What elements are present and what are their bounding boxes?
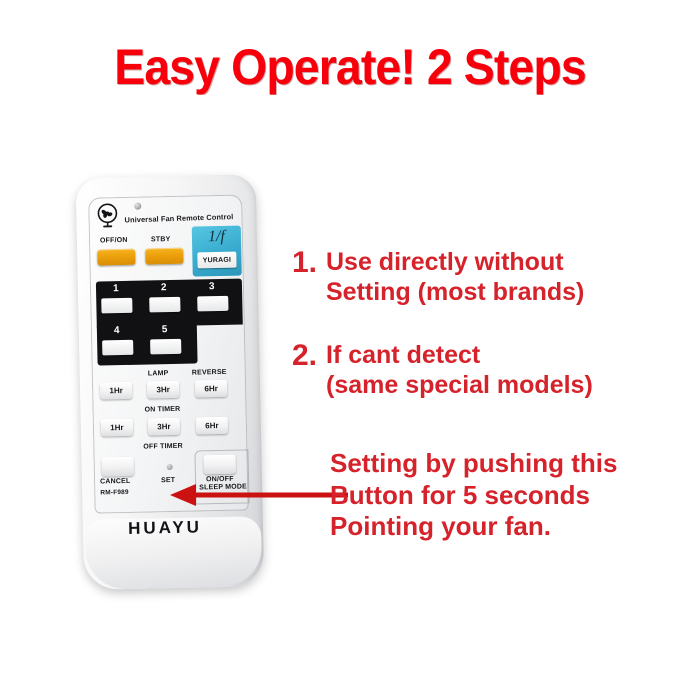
off-on-button[interactable] bbox=[97, 249, 135, 266]
timer-button-1hr-row2[interactable]: 1Hr bbox=[101, 419, 133, 437]
timer-button-1hr-row1[interactable]: 1Hr bbox=[100, 382, 132, 400]
off-timer-label: OFF TIMER bbox=[143, 443, 183, 451]
model-number: RM-F989 bbox=[100, 489, 129, 497]
stby-label: STBY bbox=[151, 236, 171, 243]
cancel-label: CANCEL bbox=[100, 478, 131, 486]
yuragi-panel: 1/f YURAGI bbox=[192, 226, 242, 277]
timer-button-3hr-row2[interactable]: 3Hr bbox=[148, 418, 180, 436]
callout-line-3: Pointing your fan. bbox=[330, 511, 617, 543]
step-2-line-2: (same special models) bbox=[326, 371, 593, 401]
speed-label-2: 2 bbox=[161, 282, 167, 293]
speed-label-5: 5 bbox=[162, 324, 168, 335]
callout-text: Setting by pushing this Button for 5 sec… bbox=[330, 448, 617, 543]
remote-control-image: Universal Fan Remote Control 1/f YURAGI … bbox=[68, 166, 277, 600]
speed-button-1[interactable] bbox=[101, 298, 132, 314]
speed-keypad: 1 2 3 4 5 bbox=[96, 279, 244, 366]
speed-button-2[interactable] bbox=[149, 297, 180, 313]
speed-label-3: 3 bbox=[209, 281, 215, 292]
yuragi-mode-label: 1/f bbox=[192, 228, 241, 247]
on-timer-label: ON TIMER bbox=[144, 406, 180, 414]
timer-button-3hr-row1[interactable]: 3Hr bbox=[147, 381, 179, 399]
ir-led-indicator bbox=[134, 203, 141, 210]
page-title: Easy Operate! 2 Steps bbox=[25, 38, 676, 96]
instruction-steps: 1. Use directly without Setting (most br… bbox=[292, 248, 692, 400]
step-1-body: Use directly without Setting (most brand… bbox=[326, 248, 584, 307]
step-1-number: 1. bbox=[292, 248, 326, 278]
fan-icon bbox=[96, 203, 123, 230]
step-2-body: If cant detect (same special models) bbox=[326, 341, 593, 400]
cancel-button[interactable] bbox=[102, 457, 134, 477]
sleep-mode-button[interactable] bbox=[204, 455, 236, 475]
speed-label-1: 1 bbox=[113, 283, 119, 294]
left-arrow-pointer bbox=[160, 478, 350, 514]
speed-button-3[interactable] bbox=[197, 296, 228, 312]
step-1-line-2: Setting (most brands) bbox=[326, 278, 584, 308]
stby-button[interactable] bbox=[145, 248, 183, 265]
brand-name: HUAYU bbox=[75, 516, 255, 540]
set-button[interactable] bbox=[167, 464, 173, 470]
step-2-line-1: If cant detect bbox=[326, 341, 593, 371]
remote-header-text: Universal Fan Remote Control bbox=[124, 212, 233, 224]
step-1: 1. Use directly without Setting (most br… bbox=[292, 248, 692, 307]
timer-button-6hr-row2[interactable]: 6Hr bbox=[196, 417, 228, 435]
step-2: 2. If cant detect (same special models) bbox=[292, 341, 692, 400]
speed-label-4: 4 bbox=[114, 325, 120, 336]
reverse-label: REVERSE bbox=[192, 369, 227, 377]
lamp-label: LAMP bbox=[148, 370, 169, 377]
remote-faceplate: Universal Fan Remote Control 1/f YURAGI … bbox=[88, 194, 249, 513]
yuragi-button[interactable]: YURAGI bbox=[197, 252, 236, 269]
timer-button-6hr-row1[interactable]: 6Hr bbox=[195, 380, 227, 398]
off-on-label: OFF/ON bbox=[100, 237, 128, 245]
speed-button-5[interactable] bbox=[150, 339, 181, 355]
step-1-line-1: Use directly without bbox=[326, 248, 584, 278]
speed-button-4[interactable] bbox=[102, 340, 133, 356]
callout-line-1: Setting by pushing this bbox=[330, 448, 617, 480]
callout-line-2: Button for 5 seconds bbox=[330, 480, 617, 512]
step-2-number: 2. bbox=[292, 341, 326, 371]
